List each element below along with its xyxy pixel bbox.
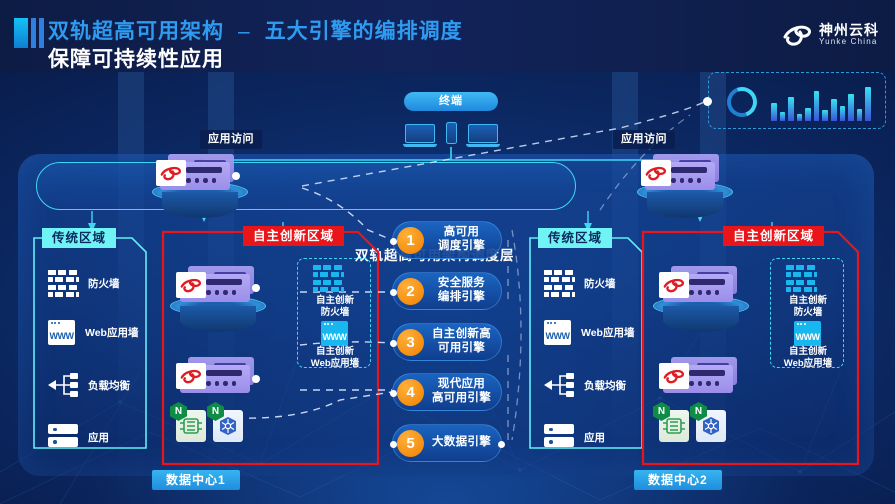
- engine-label: 高可用 调度引擎: [424, 226, 501, 254]
- server-icon: [160, 160, 234, 190]
- yunke-logo-badge-icon: [176, 363, 206, 389]
- kubernetes-icon-dc2: N: [696, 410, 726, 442]
- server-icon: [180, 363, 254, 393]
- yunke-logo-badge-icon: [176, 272, 206, 298]
- web-app-firewall-icon: WWW: [544, 320, 571, 345]
- datacenter-label-2: 数据中心2: [634, 470, 722, 490]
- traditional-item-label: Web应用墙: [581, 325, 634, 340]
- bigdata-visualization-widget: [708, 72, 886, 129]
- caption-line1: 自主创新: [771, 295, 845, 307]
- traditional-item-firewall-dc1: 防火墙: [48, 270, 120, 296]
- kubernetes-icon-dc1: N: [213, 410, 243, 442]
- innovation-waf-caption-dc1: 自主创新 Web应用墙: [298, 346, 372, 370]
- donut-chart-icon: [722, 82, 762, 122]
- bar-chart-bar: [857, 109, 863, 121]
- nginx-badge-icon: N: [690, 402, 707, 421]
- engine-label: 大数据引擎: [424, 436, 501, 450]
- slide-header: 双轨超高可用架构–五大引擎的编排调度 保障可持续性应用 神州云科 Yunke C…: [0, 0, 895, 72]
- traditional-item-label: Web应用墙: [85, 325, 138, 340]
- page-title-part1: 双轨超高可用架构: [48, 20, 224, 43]
- zone-title-traditional-dc1: 传统区域: [42, 228, 116, 248]
- title-dash: –: [224, 20, 265, 43]
- engine-label: 现代应用 高可用引擎: [424, 378, 501, 406]
- caption-line2: Web应用墙: [771, 358, 845, 370]
- laptop-icon: [403, 124, 437, 148]
- bigdata-connector-dot: [703, 97, 712, 106]
- caption-line2: 防火墙: [771, 307, 845, 319]
- bar-chart-bar: [797, 114, 803, 121]
- access-label-right: 应用访问: [613, 130, 675, 149]
- engine-connector-dot-left: [390, 340, 397, 347]
- page-subtitle: 保障可持续性应用: [48, 43, 224, 73]
- traditional-item-loadbalancer-dc1: 负载均衡: [48, 372, 130, 398]
- yunke-logo-badge-icon: [641, 160, 671, 186]
- engine-label-line2: 高可用引擎: [424, 392, 499, 406]
- innovation-server-stack-2-dc1: [180, 363, 254, 393]
- terminal-label: 终端: [404, 92, 498, 111]
- zone-title-innovation-dc1: 自主创新区域: [243, 226, 344, 246]
- scheduler-server-stack: [160, 160, 234, 190]
- traditional-item-application-dc2: 应用: [544, 424, 605, 450]
- traditional-item-label: 防火墙: [584, 276, 616, 291]
- bar-chart-bar: [848, 94, 854, 121]
- caption-line2: 防火墙: [298, 307, 372, 319]
- engine-label-line2: 可用引擎: [424, 342, 499, 356]
- innovation-components-box-dc1: 自主创新 防火墙 WWW 自主创新 Web应用墙: [297, 258, 371, 368]
- traditional-item-label: 负载均衡: [88, 378, 130, 393]
- server-icon: [645, 160, 719, 190]
- engine-connector-dot-left: [390, 390, 397, 397]
- bar-chart-bar: [822, 110, 828, 121]
- firewall-icon: [313, 265, 343, 291]
- brand-name-cn: 神州云科: [819, 23, 879, 38]
- server-icon: [180, 272, 254, 302]
- traditional-item-label: 负载均衡: [584, 378, 626, 393]
- web-app-firewall-icon: WWW: [794, 321, 821, 346]
- traditional-item-waf-dc1: WWW Web应用墙: [48, 320, 138, 345]
- innovation-firewall-caption-dc2: 自主创新 防火墙: [771, 295, 845, 319]
- firewall-icon: [544, 270, 574, 296]
- engine-label-line2: 编排引擎: [424, 291, 499, 305]
- bar-chart-bar: [831, 99, 837, 121]
- engine-number: 2: [397, 278, 424, 305]
- brand-name-en: Yunke China: [819, 38, 879, 46]
- yunke-logo-badge-icon: [156, 160, 186, 186]
- engine-connector-dot-right: [498, 441, 505, 448]
- slide-canvas: 双轨超高可用架构调度层: [0, 0, 895, 504]
- zone-title-traditional-dc2: 传统区域: [538, 228, 612, 248]
- server-icon: [663, 363, 737, 393]
- access-label-left: 应用访问: [200, 130, 262, 149]
- traditional-item-application-dc1: 应用: [48, 424, 109, 450]
- bar-chart-bar: [805, 108, 811, 121]
- application-server-icon: [544, 424, 574, 450]
- engine-label-line2: 调度引擎: [424, 240, 499, 254]
- engine-number: 5: [397, 430, 424, 457]
- engine-label: 安全服务 编排引擎: [424, 277, 501, 305]
- traditional-item-waf-dc2: WWW Web应用墙: [544, 320, 634, 345]
- engine-card-3[interactable]: 3 自主创新高 可用引擎: [392, 323, 502, 361]
- bar-chart-icon: [771, 83, 871, 121]
- application-server-icon: [48, 424, 78, 450]
- brand-name: 神州云科 Yunke China: [819, 23, 879, 46]
- bar-chart-bar: [771, 103, 777, 121]
- caption-line2: Web应用墙: [298, 358, 372, 370]
- nginx-app-icon-dc2: N: [659, 410, 689, 442]
- innovation-waf-caption-dc2: 自主创新 Web应用墙: [771, 346, 845, 370]
- accent-bars-icon: [14, 18, 44, 48]
- web-app-firewall-icon: WWW: [48, 320, 75, 345]
- firewall-icon: [48, 270, 78, 296]
- traditional-item-label: 防火墙: [88, 276, 120, 291]
- phone-icon: [446, 122, 457, 144]
- server-icon: [663, 272, 737, 302]
- engine-connector-dot-left: [390, 238, 397, 245]
- connector-dot: [252, 284, 260, 292]
- connector-dot: [252, 375, 260, 383]
- traditional-item-loadbalancer-dc2: 负载均衡: [544, 372, 626, 398]
- innovation-firewall-caption-dc1: 自主创新 防火墙: [298, 295, 372, 319]
- connector-dot: [232, 172, 240, 180]
- engine-label-line1: 高可用: [424, 226, 499, 240]
- scheduler-layer-bar: [36, 162, 576, 210]
- engine-card-5[interactable]: 5 大数据引擎: [392, 424, 502, 462]
- traditional-item-firewall-dc2: 防火墙: [544, 270, 616, 296]
- engine-card-1[interactable]: 1 高可用 调度引擎: [392, 221, 502, 259]
- yunke-logo-badge-icon: [659, 272, 689, 298]
- page-title: 双轨超高可用架构–五大引擎的编排调度: [48, 15, 463, 45]
- engine-label-line1: 大数据引擎: [424, 436, 499, 450]
- scheduler-server-stack-right: [645, 160, 719, 190]
- engine-number: 4: [397, 379, 424, 406]
- innovation-server-stack-2-dc2: [663, 363, 737, 393]
- datacenter-label-1: 数据中心1: [152, 470, 240, 490]
- firewall-icon: [786, 265, 816, 291]
- bar-chart-bar: [865, 87, 871, 121]
- engine-connector-dot-left: [390, 289, 397, 296]
- engine-number: 1: [397, 227, 424, 254]
- engine-card-2[interactable]: 2 安全服务 编排引擎: [392, 272, 502, 310]
- innovation-server-stack-1-dc2: [663, 272, 737, 302]
- traditional-item-label: 应用: [584, 430, 605, 445]
- web-app-firewall-icon: WWW: [321, 321, 348, 346]
- bar-chart-bar: [788, 97, 794, 121]
- terminal-devices: [396, 113, 506, 147]
- engine-label-line1: 安全服务: [424, 277, 499, 291]
- nginx-badge-icon: N: [653, 402, 670, 421]
- innovation-server-stack-1-dc1: [180, 272, 254, 302]
- engine-label: 自主创新高 可用引擎: [424, 328, 501, 356]
- engine-connector-dot-left: [390, 441, 397, 448]
- traditional-item-label: 应用: [88, 430, 109, 445]
- bar-chart-bar: [840, 106, 846, 121]
- yunke-swirl-icon: [782, 20, 812, 50]
- load-balancer-icon: [48, 372, 78, 398]
- engine-label-line1: 自主创新高: [424, 328, 499, 342]
- nginx-badge-icon: N: [207, 402, 224, 421]
- load-balancer-icon: [544, 372, 574, 398]
- caption-line1: 自主创新: [298, 295, 372, 307]
- engine-label-line1: 现代应用: [424, 378, 499, 392]
- bar-chart-bar: [780, 112, 786, 121]
- laptop-icon: [466, 124, 500, 148]
- brand-logo: 神州云科 Yunke China: [782, 20, 879, 50]
- nginx-badge-icon: N: [170, 402, 187, 421]
- engine-number: 3: [397, 329, 424, 356]
- zone-title-innovation-dc2: 自主创新区域: [723, 226, 824, 246]
- innovation-components-box-dc2: 自主创新 防火墙 WWW 自主创新 Web应用墙: [770, 258, 844, 368]
- bar-chart-bar: [814, 91, 820, 121]
- yunke-logo-badge-icon: [659, 363, 689, 389]
- caption-line1: 自主创新: [771, 346, 845, 358]
- caption-line1: 自主创新: [298, 346, 372, 358]
- page-title-part2: 五大引擎的编排调度: [265, 20, 463, 43]
- nginx-app-icon-dc1: N: [176, 410, 206, 442]
- engine-card-4[interactable]: 4 现代应用 高可用引擎: [392, 373, 502, 411]
